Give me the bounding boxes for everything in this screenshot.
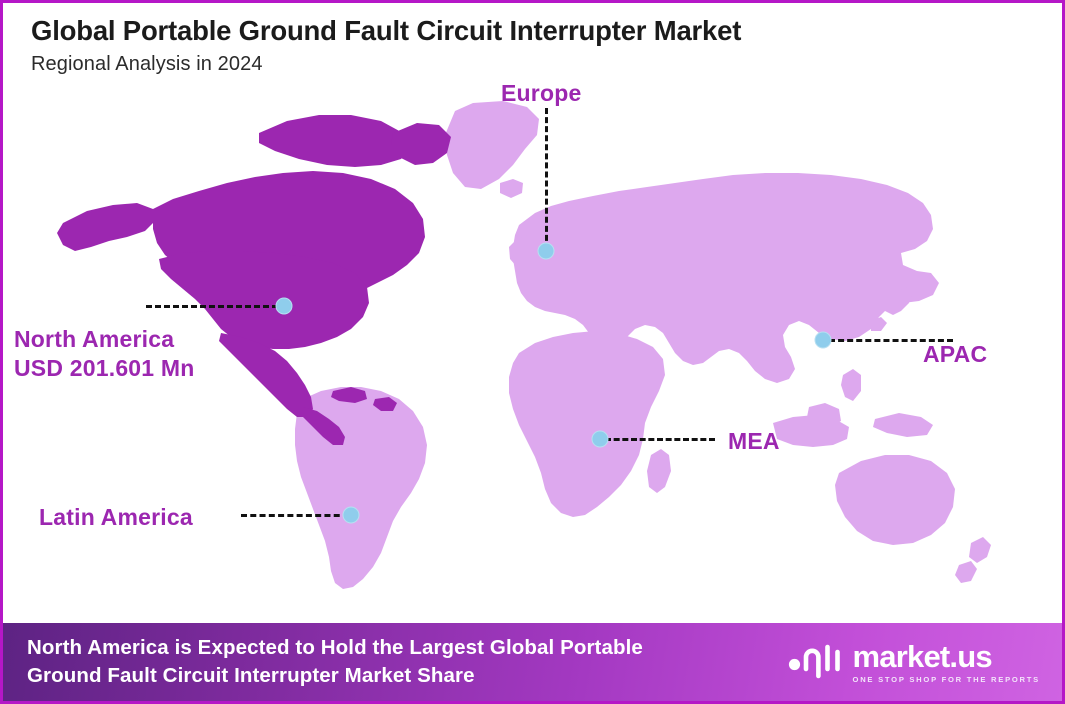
map-regions-highlighted <box>57 115 451 445</box>
region-label-apac: APAC <box>923 340 987 369</box>
market-us-logo[interactable]: market.us ONE STOP SHOP FOR THE REPORTS <box>786 638 1040 687</box>
region-greenland <box>445 101 539 189</box>
region-africa <box>509 331 665 517</box>
leader-line-europe <box>545 108 548 250</box>
region-alaska <box>57 203 155 251</box>
region-australia <box>835 455 955 545</box>
region-label-latin-america: Latin America <box>39 503 193 532</box>
region-arctic-islands <box>259 115 411 167</box>
region-madagascar <box>647 449 671 493</box>
map-regions-other <box>295 101 991 589</box>
marker-mea[interactable] <box>592 431 609 448</box>
logo-tagline: ONE STOP SHOP FOR THE REPORTS <box>853 676 1040 684</box>
region-label-latin-america-text: Latin America <box>39 504 193 530</box>
logo-wordmark: market.us <box>853 641 1040 672</box>
market-us-logo-text: market.us ONE STOP SHOP FOR THE REPORTS <box>853 641 1040 684</box>
market-us-logo-mark-icon <box>786 638 844 687</box>
marker-apac[interactable] <box>815 332 832 349</box>
page-title: Global Portable Ground Fault Circuit Int… <box>31 15 1062 47</box>
banner-headline-line-1: North America is Expected to Hold the La… <box>27 634 643 662</box>
banner-headline-line-2: Ground Fault Circuit Interrupter Market … <box>27 662 643 690</box>
region-new-zealand <box>969 537 991 563</box>
header: Global Portable Ground Fault Circuit Int… <box>3 3 1062 76</box>
marker-europe[interactable] <box>538 243 555 260</box>
region-label-europe: Europe <box>501 79 581 108</box>
region-label-north-america: North America USD 201.601 Mn <box>14 325 195 383</box>
region-label-apac-text: APAC <box>923 341 987 367</box>
bottom-banner: North America is Expected to Hold the La… <box>3 623 1062 701</box>
region-label-europe-text: Europe <box>501 80 581 106</box>
marker-north-america[interactable] <box>276 298 293 315</box>
region-philippines <box>841 369 861 401</box>
banner-headline: North America is Expected to Hold the La… <box>27 634 643 690</box>
infographic-root: Global Portable Ground Fault Circuit Int… <box>0 0 1065 704</box>
page-subtitle: Regional Analysis in 2024 <box>31 53 1062 76</box>
region-iceland <box>500 179 523 198</box>
leader-line-north-america <box>146 305 278 308</box>
region-new-zealand-south <box>955 561 977 583</box>
leader-line-mea <box>605 438 715 441</box>
marker-latin-america[interactable] <box>343 507 360 524</box>
leader-line-latin-america <box>241 514 349 517</box>
region-label-north-america-text: North America <box>14 325 195 354</box>
region-label-mea-text: MEA <box>728 428 780 454</box>
region-new-guinea <box>873 413 933 437</box>
region-label-mea: MEA <box>728 427 780 456</box>
region-value-north-america: USD 201.601 Mn <box>14 354 195 383</box>
